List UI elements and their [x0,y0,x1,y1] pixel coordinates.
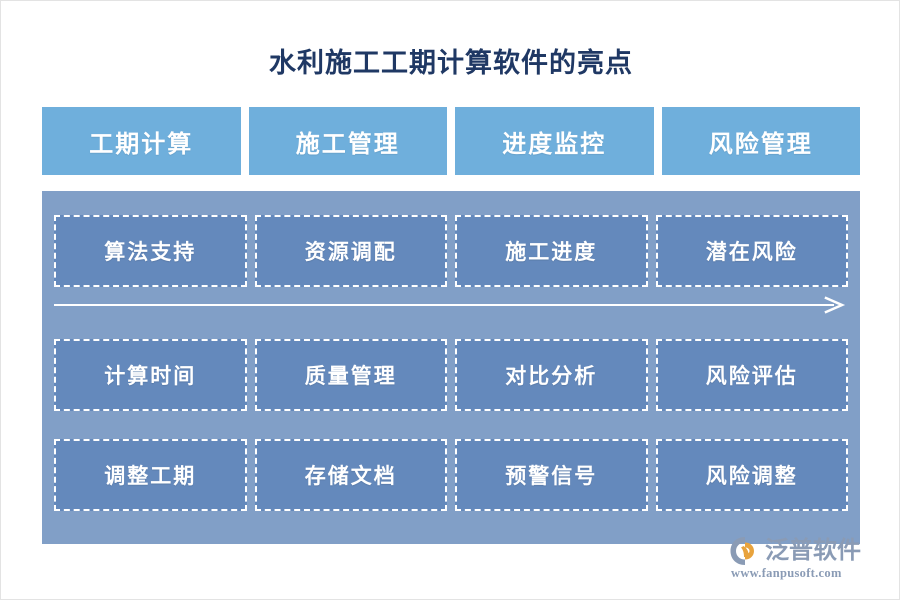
feature-cell-label: 对比分析 [505,360,597,390]
feature-row-3: 调整工期 存储文档 预警信号 风险调整 [42,439,860,511]
feature-matrix-panel: 算法支持 资源调配 施工进度 潜在风险 计算时间 质 [42,191,860,544]
feature-cell-label: 施工进度 [505,236,597,266]
category-header-shigongguanli[interactable]: 施工管理 [249,107,448,175]
category-header-gongqijisuan[interactable]: 工期计算 [42,107,241,175]
category-header-label: 风险管理 [709,124,813,159]
category-header-label: 工期计算 [89,124,193,159]
brand-logo: 泛普软件 www.fanpusoft.com [729,535,877,585]
feature-cell-label: 潜在风险 [706,236,798,266]
category-header-row: 工期计算 施工管理 进度监控 风险管理 [42,107,860,175]
feature-cell-r2c2[interactable]: 质量管理 [255,339,448,411]
feature-cell-r3c4[interactable]: 风险调整 [656,439,849,511]
feature-cell-label: 算法支持 [104,236,196,266]
feature-cell-label: 调整工期 [104,460,196,490]
feature-cell-r2c1[interactable]: 计算时间 [54,339,247,411]
feature-cell-label: 质量管理 [305,360,397,390]
feature-cell-r2c3[interactable]: 对比分析 [455,339,648,411]
brand-url: www.fanpusoft.com [729,566,877,581]
feature-cell-r1c3[interactable]: 施工进度 [455,215,648,287]
feature-cell-label: 风险评估 [706,360,798,390]
feature-cell-label: 计算时间 [104,360,196,390]
brand-logo-top: 泛普软件 [729,535,877,567]
right-arrow-icon [54,295,848,315]
category-header-label: 施工管理 [296,124,400,159]
category-header-fengxianguanli[interactable]: 风险管理 [662,107,861,175]
feature-cell-label: 存储文档 [305,460,397,490]
feature-cell-r3c1[interactable]: 调整工期 [54,439,247,511]
category-header-jindujiankong[interactable]: 进度监控 [455,107,654,175]
feature-cell-label: 预警信号 [505,460,597,490]
brand-name: 泛普软件 [765,536,861,566]
fanpu-swirl-logo-icon [729,536,761,566]
feature-cell-r1c4[interactable]: 潜在风险 [656,215,849,287]
infographic-canvas: 水利施工工期计算软件的亮点 工期计算 施工管理 进度监控 风险管理 算法支持 资… [0,0,900,600]
feature-row-1: 算法支持 资源调配 施工进度 潜在风险 [42,215,860,287]
feature-cell-label: 风险调整 [706,460,798,490]
page-title: 水利施工工期计算软件的亮点 [1,45,900,81]
feature-cell-r1c1[interactable]: 算法支持 [54,215,247,287]
feature-cell-r2c4[interactable]: 风险评估 [656,339,849,411]
feature-cell-r1c2[interactable]: 资源调配 [255,215,448,287]
feature-row-2: 计算时间 质量管理 对比分析 风险评估 [42,339,860,411]
category-header-label: 进度监控 [502,124,606,159]
feature-cell-r3c3[interactable]: 预警信号 [455,439,648,511]
feature-cell-r3c2[interactable]: 存储文档 [255,439,448,511]
feature-cell-label: 资源调配 [305,236,397,266]
